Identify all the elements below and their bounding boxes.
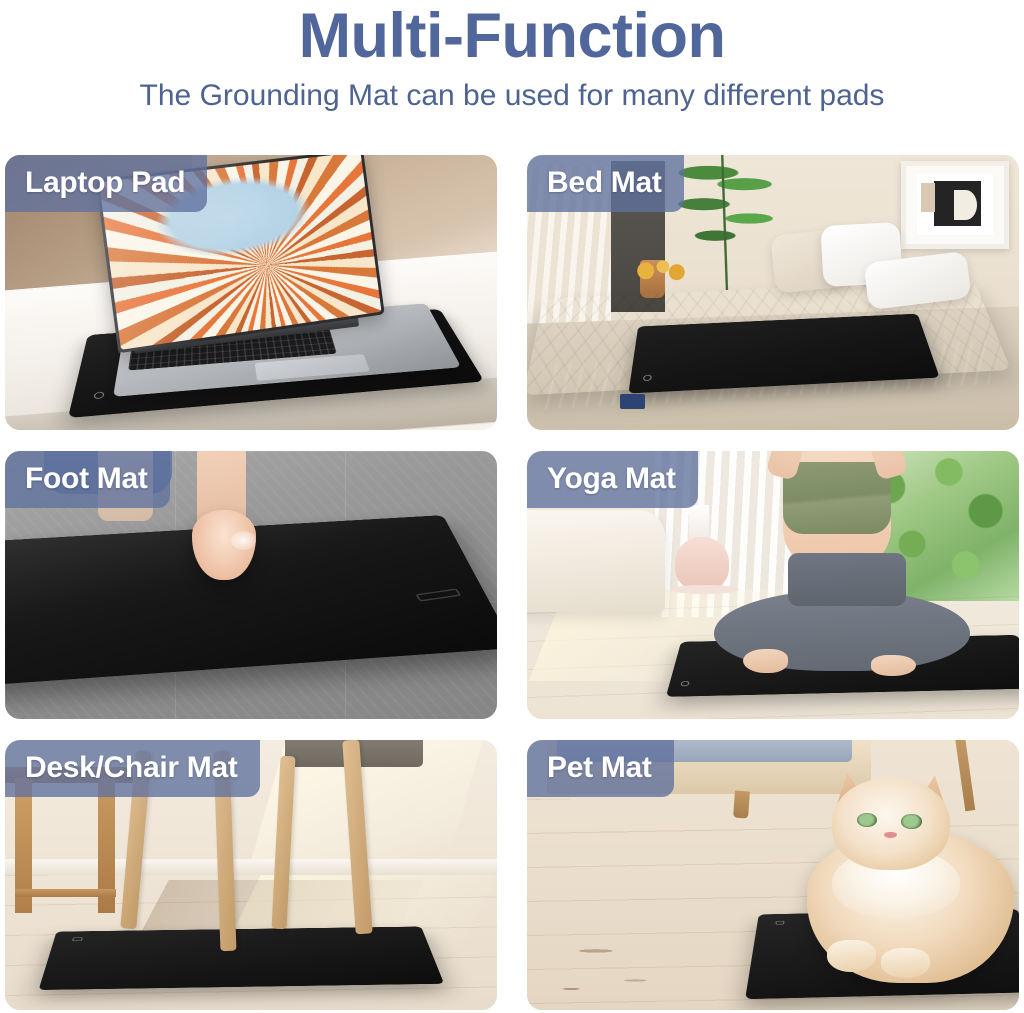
grounding-mat: [39, 926, 444, 989]
lamp-body: [675, 537, 729, 591]
artwork-shape-tan: [921, 183, 935, 212]
use-case-grid: Laptop Pad: [5, 155, 1019, 1010]
potted-plant: [670, 155, 783, 290]
panel-foot-mat[interactable]: Foot Mat: [5, 451, 497, 719]
panel-label-pet-mat: Pet Mat: [527, 740, 674, 797]
header: Multi-Function The Grounding Mat can be …: [0, 0, 1024, 116]
sports-bra: [783, 462, 891, 534]
panel-laptop-pad[interactable]: Laptop Pad: [5, 155, 497, 430]
mat-snap-dot-icon: [93, 391, 104, 399]
panel-label-desk-chair-mat: Desk/Chair Mat: [5, 740, 260, 797]
artwork-shape-d: [954, 190, 977, 220]
framed-artwork: [901, 161, 1009, 249]
cat-paw-left: [827, 940, 876, 972]
desk-rail: [15, 889, 116, 897]
panel-yoga-mat[interactable]: Yoga Mat: [527, 451, 1019, 719]
panel-label-bed-mat: Bed Mat: [527, 155, 684, 212]
mat-snap-dot-icon: [72, 937, 83, 941]
cat-paw-right: [881, 948, 930, 978]
mat-snap-dot-icon: [643, 374, 652, 380]
leggings-waistband: [788, 553, 906, 607]
baseboard: [5, 859, 497, 875]
panel-pet-mat[interactable]: Pet Mat: [527, 740, 1019, 1010]
mat-snap-dot-icon: [776, 920, 785, 924]
mat-snap-dot-icon: [679, 680, 689, 685]
armchair: [527, 510, 665, 612]
artwork-mat: [917, 174, 994, 235]
panel-label-foot-mat: Foot Mat: [5, 451, 170, 508]
panel-label-yoga-mat: Yoga Mat: [527, 451, 698, 508]
foot-left: [743, 649, 787, 673]
cat-eye-right: [901, 814, 922, 829]
page-title: Multi-Function: [0, 2, 1024, 70]
mattress-brand-tag: [620, 394, 645, 409]
mat-strap-handle: [416, 589, 462, 602]
panel-label-laptop-pad: Laptop Pad: [5, 155, 207, 212]
foot-highlight: [231, 531, 256, 550]
page-subtitle: The Grounding Mat can be used for many d…: [0, 76, 1024, 116]
panel-desk-chair-mat[interactable]: Desk/Chair Mat: [5, 740, 497, 1010]
panel-bed-mat[interactable]: Bed Mat: [527, 155, 1019, 430]
foot-right: [871, 655, 915, 676]
cat-head: [832, 778, 950, 870]
